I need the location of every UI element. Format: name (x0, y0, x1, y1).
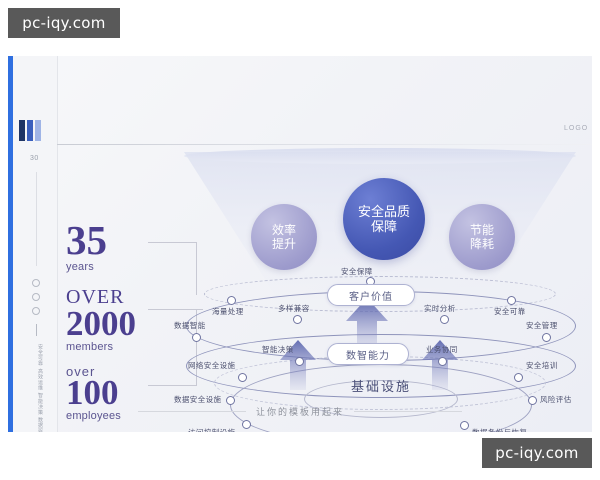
funnel-lip (184, 148, 576, 164)
node-infra-8 (514, 373, 523, 382)
node-value-4 (507, 296, 516, 305)
node-label-cap-2: 智能决策 (262, 344, 294, 355)
footer: 让你的模板用起来 (8, 405, 592, 418)
node-label-infra-3: 访问控制设施 (188, 427, 235, 432)
node-label-cap-3: 业务协同 (426, 344, 458, 355)
pyramid-diagram: 效率 提升 安全品质 保障 节能 降耗 安全保障 客户价值 数智能力 海量处理 … (176, 148, 586, 432)
infrastructure-label: 基础设施 (317, 376, 445, 395)
footer-line-left (138, 411, 246, 412)
bar-dark-icon (19, 120, 25, 141)
node-infra-3 (242, 420, 251, 429)
rail-divider-mid (36, 324, 37, 336)
node-label-value-1: 海量处理 (212, 306, 244, 317)
rail-dot-2-icon (32, 293, 40, 301)
node-cap-2 (295, 357, 304, 366)
node-label-infra-1: 网络安全设施 (188, 360, 235, 371)
node-cap-3 (438, 357, 447, 366)
node-label-value-4: 安全可靠 (494, 306, 526, 317)
pill-digital-capability[interactable]: 数智能力 (327, 343, 409, 365)
watermark-bottom: pc-iqy.com (482, 438, 592, 468)
bubble-energy-saving-text: 节能 降耗 (470, 223, 494, 251)
node-label-infra-8: 安全培训 (526, 360, 558, 371)
node-label-infra-2: 数据安全设施 (174, 394, 221, 405)
footer-text: 让你的模板用起来 (256, 405, 344, 418)
node-infra-6 (460, 421, 469, 430)
node-label-infra-7: 风险评估 (540, 394, 572, 405)
node-infra-7 (528, 396, 537, 405)
node-value-2 (293, 315, 302, 324)
rail-divider-top (36, 172, 37, 266)
node-cap-1 (192, 333, 201, 342)
three-bars-logo-icon (19, 120, 41, 141)
slide-canvas: LOGO 30 安全可靠 高效运维 智能决策 数据驱动 35 years OVE… (8, 56, 592, 432)
node-label-value-2: 多样兼容 (278, 303, 310, 314)
node-label-cap-1: 数据智能 (174, 320, 206, 331)
bar-light-icon (35, 120, 41, 141)
node-label-cap-4: 安全管理 (526, 320, 558, 331)
bubble-security-quality-text: 安全品质 保障 (358, 204, 410, 235)
node-cap-4 (542, 333, 551, 342)
page-number: 30 (30, 155, 39, 162)
node-infra-2 (226, 396, 235, 405)
logo-placeholder: LOGO (564, 125, 588, 132)
node-label-security-assurance: 安全保障 (341, 266, 373, 277)
node-value-3 (440, 315, 449, 324)
bubble-security-quality[interactable]: 安全品质 保障 (343, 178, 425, 260)
bubble-efficiency-text: 效率 提升 (272, 223, 296, 251)
footer-line-right (354, 411, 462, 412)
header-divider (57, 144, 592, 145)
rail-dot-3-icon (32, 307, 40, 315)
node-label-infra-6: 数据备份与恢复 (472, 427, 527, 432)
node-label-value-3: 实时分析 (424, 303, 456, 314)
node-infra-1 (238, 373, 247, 382)
bubble-energy-saving[interactable]: 节能 降耗 (449, 204, 515, 270)
pill-customer-value[interactable]: 客户价值 (327, 284, 415, 306)
watermark-top: pc-iqy.com (8, 8, 120, 38)
bar-mid-icon (27, 120, 33, 141)
node-value-1 (227, 296, 236, 305)
rail-vertical-text: 安全可靠 高效运维 智能决策 数据驱动 (28, 344, 44, 432)
rail-dot-1-icon (32, 279, 40, 287)
bubble-efficiency[interactable]: 效率 提升 (251, 204, 317, 270)
